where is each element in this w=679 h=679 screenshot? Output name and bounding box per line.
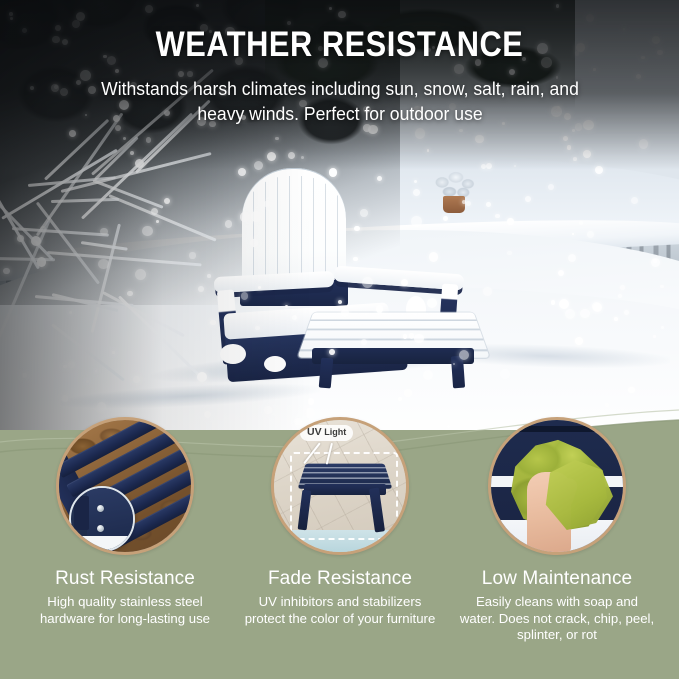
feature-description: High quality stainless steel hardware fo… — [22, 594, 228, 627]
infographic-root: WEATHER RESISTANCE Withstands harsh clim… — [0, 0, 679, 679]
feature-image-rust-resistance — [56, 417, 194, 555]
magnified-navy-surface — [87, 488, 133, 542]
feature-description: UV inhibitors and stabilizers protect th… — [240, 594, 440, 627]
page-title: WEATHER RESISTANCE — [41, 25, 639, 65]
feature-image-fade-resistance: UV Light — [271, 417, 409, 555]
ottoman-leg-left — [298, 490, 312, 531]
magnifier-inset — [69, 486, 135, 552]
feature-description: Easily cleans with soap and water. Does … — [458, 594, 656, 644]
feature-image-low-maintenance — [488, 417, 626, 555]
header: WEATHER RESISTANCE Withstands harsh clim… — [0, 0, 679, 126]
ottoman-product — [296, 460, 392, 534]
uv-light-label: UV Light — [300, 425, 353, 441]
uv-label-light: Light — [324, 427, 346, 437]
feature-rust-resistance: Rust Resistance High quality stainless s… — [12, 417, 238, 627]
stainless-screw-icon — [97, 505, 104, 512]
feature-low-maintenance: Low Maintenance Easily cleans with soap … — [444, 417, 670, 644]
uv-label-uv: UV — [307, 426, 322, 438]
magnified-ground — [71, 536, 133, 550]
stainless-screw-icon — [97, 525, 104, 532]
feature-title: Low Maintenance — [444, 567, 670, 591]
navy-top-rail — [503, 426, 611, 432]
magnified-post — [74, 496, 89, 530]
feature-title: Rust Resistance — [12, 567, 238, 591]
page-subtitle: Withstands harsh climates including sun,… — [83, 76, 596, 126]
feature-title: Fade Resistance — [227, 567, 453, 591]
feature-fade-resistance: UV Light Fade Resistance UV inhibitors a… — [227, 417, 453, 627]
